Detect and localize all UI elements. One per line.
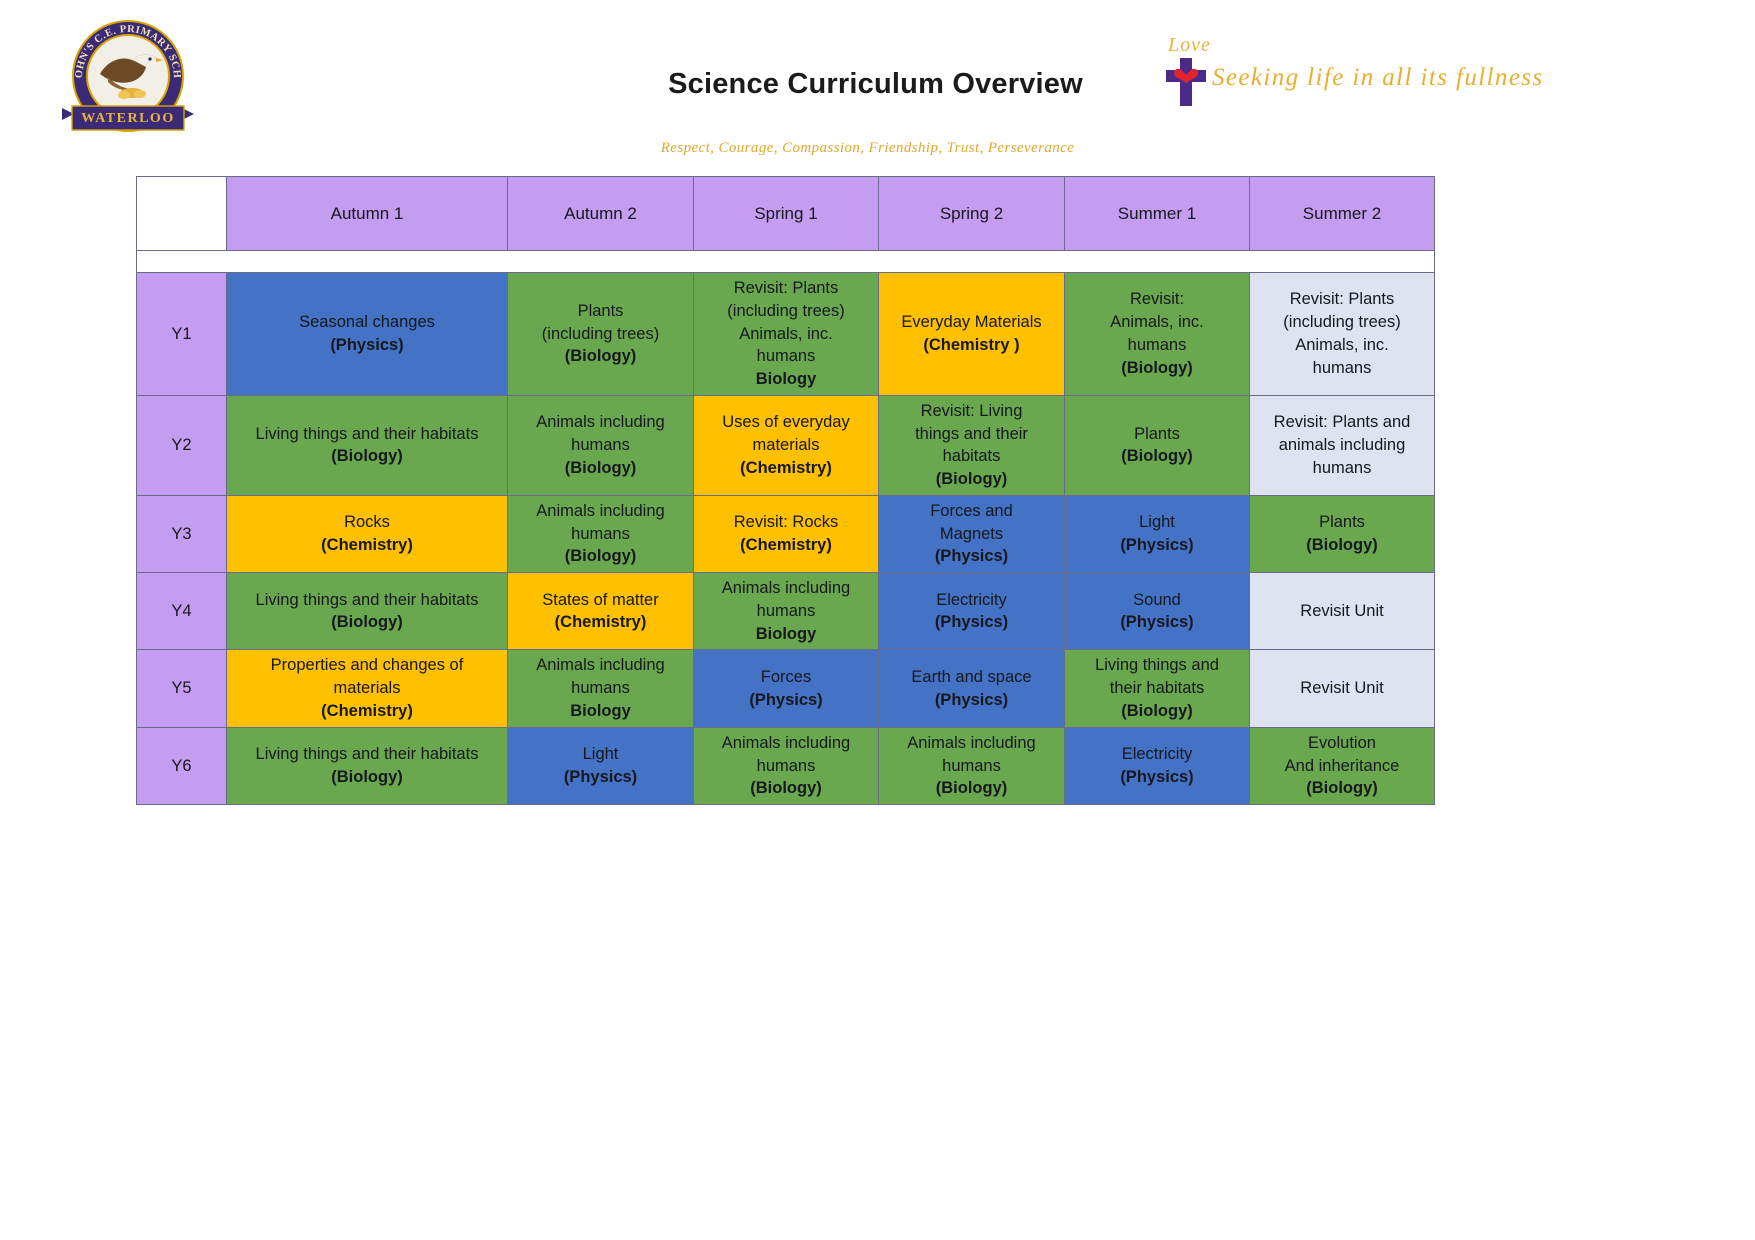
column-header-autumn-2: Autumn 2 bbox=[508, 177, 694, 251]
unit-cell-line: (Biology) bbox=[513, 457, 688, 480]
unit-cell-line: (Biology) bbox=[884, 468, 1059, 491]
unit-cell-line: (Biology) bbox=[232, 445, 502, 468]
table-row: Y3Rocks(Chemistry)Animals includinghuman… bbox=[137, 495, 1435, 572]
page-title-text: Science Curriculum Overview bbox=[668, 68, 1083, 100]
unit-cell-line: Living things and their habitats bbox=[232, 423, 502, 446]
unit-cell-y2-3: Uses of everydaymaterials(Chemistry) bbox=[694, 395, 879, 495]
unit-cell-line: Revisit: Living bbox=[884, 400, 1059, 423]
unit-cell-y3-4: Forces andMagnets(Physics) bbox=[879, 495, 1065, 572]
unit-cell-line: (Biology) bbox=[884, 777, 1059, 800]
unit-cell-y1-1: Seasonal changes(Physics) bbox=[227, 273, 508, 396]
unit-cell-y2-5: Plants(Biology) bbox=[1065, 395, 1250, 495]
unit-cell-y3-6: Plants(Biology) bbox=[1250, 495, 1435, 572]
unit-cell-y6-1: Living things and their habitats(Biology… bbox=[227, 727, 508, 804]
unit-cell-y5-3: Forces(Physics) bbox=[694, 650, 879, 727]
unit-cell-line: (Chemistry) bbox=[232, 534, 502, 557]
unit-cell-line: humans bbox=[699, 345, 873, 368]
unit-cell-line: Earth and space bbox=[884, 666, 1059, 689]
unit-cell-line: Animals including bbox=[699, 732, 873, 755]
unit-cell-line: Revisit Unit bbox=[1255, 600, 1429, 623]
unit-cell-y2-1: Living things and their habitats(Biology… bbox=[227, 395, 508, 495]
table-row: Y2Living things and their habitats(Biolo… bbox=[137, 395, 1435, 495]
unit-cell-line: humans bbox=[699, 755, 873, 778]
unit-cell-y6-3: Animals includinghumans(Biology) bbox=[694, 727, 879, 804]
unit-cell-y5-1: Properties and changes ofmaterials(Chemi… bbox=[227, 650, 508, 727]
unit-cell-y1-4: Everyday Materials(Chemistry ) bbox=[879, 273, 1065, 396]
unit-cell-y2-2: Animals includinghumans(Biology) bbox=[508, 395, 694, 495]
unit-cell-line: Rocks bbox=[232, 511, 502, 534]
year-label-y3: Y3 bbox=[137, 495, 227, 572]
unit-cell-line: (Physics) bbox=[699, 689, 873, 712]
unit-cell-y2-6: Revisit: Plants andanimals includinghuma… bbox=[1250, 395, 1435, 495]
unit-cell-line: Revisit: bbox=[1070, 288, 1244, 311]
unit-cell-line: Animals including bbox=[513, 654, 688, 677]
unit-cell-line: Biology bbox=[513, 700, 688, 723]
unit-cell-line: humans bbox=[513, 677, 688, 700]
table-row: Y5Properties and changes ofmaterials(Che… bbox=[137, 650, 1435, 727]
unit-cell-y6-6: EvolutionAnd inheritance(Biology) bbox=[1250, 727, 1435, 804]
unit-cell-line: (Physics) bbox=[1070, 534, 1244, 557]
unit-cell-y1-3: Revisit: Plants(including trees)Animals,… bbox=[694, 273, 879, 396]
crest-banner: WATERLOO bbox=[62, 104, 194, 134]
unit-cell-line: (Physics) bbox=[513, 766, 688, 789]
unit-cell-line: (Biology) bbox=[1070, 445, 1244, 468]
unit-cell-line: materials bbox=[699, 434, 873, 457]
page-header: ST. JOHN'S C.E. PRIMARY SCHOOL WATERLOO bbox=[0, 0, 1755, 175]
column-header-autumn-1: Autumn 1 bbox=[227, 177, 508, 251]
unit-cell-line: Biology bbox=[699, 368, 873, 391]
unit-cell-line: Seasonal changes bbox=[232, 311, 502, 334]
unit-cell-line: Animals, inc. bbox=[1255, 334, 1429, 357]
unit-cell-line: (Chemistry ) bbox=[884, 334, 1059, 357]
column-header-summer-2: Summer 2 bbox=[1250, 177, 1435, 251]
year-label-y6: Y6 bbox=[137, 727, 227, 804]
unit-cell-line: (Biology) bbox=[513, 345, 688, 368]
unit-cell-line: Evolution bbox=[1255, 732, 1429, 755]
unit-cell-line: Sound bbox=[1070, 589, 1244, 612]
unit-cell-line: (Biology) bbox=[513, 545, 688, 568]
strapline-text: Seeking life in all its fullness bbox=[1212, 64, 1544, 92]
unit-cell-line: Forces and bbox=[884, 500, 1059, 523]
unit-cell-y1-2: Plants(including trees)(Biology) bbox=[508, 273, 694, 396]
unit-cell-line: materials bbox=[232, 677, 502, 700]
unit-cell-line: (Physics) bbox=[884, 689, 1059, 712]
unit-cell-y2-4: Revisit: Livingthings and theirhabitats(… bbox=[879, 395, 1065, 495]
unit-cell-line: humans bbox=[1070, 334, 1244, 357]
unit-cell-y4-1: Living things and their habitats(Biology… bbox=[227, 573, 508, 650]
unit-cell-y4-3: Animals includinghumansBiology bbox=[694, 573, 879, 650]
unit-cell-line: Biology bbox=[699, 623, 873, 646]
unit-cell-line: Animals including bbox=[513, 500, 688, 523]
table-row: Y4Living things and their habitats(Biolo… bbox=[137, 573, 1435, 650]
unit-cell-line: (Chemistry) bbox=[699, 534, 873, 557]
unit-cell-line: (Biology) bbox=[232, 766, 502, 789]
unit-cell-line: Animals, inc. bbox=[1070, 311, 1244, 334]
unit-cell-line: (Biology) bbox=[1070, 700, 1244, 723]
unit-cell-line: their habitats bbox=[1070, 677, 1244, 700]
unit-cell-y6-2: Light(Physics) bbox=[508, 727, 694, 804]
table-spacer-row bbox=[137, 251, 1435, 273]
unit-cell-line: (Chemistry) bbox=[232, 700, 502, 723]
unit-cell-line: (Physics) bbox=[884, 611, 1059, 634]
table-header-row: Autumn 1Autumn 2Spring 1Spring 2Summer 1… bbox=[137, 177, 1435, 251]
curriculum-table-wrapper: Autumn 1Autumn 2Spring 1Spring 2Summer 1… bbox=[136, 176, 1434, 805]
crest-banner-label: WATERLOO bbox=[62, 104, 194, 134]
unit-cell-line: Plants bbox=[1255, 511, 1429, 534]
year-label-y1: Y1 bbox=[137, 273, 227, 396]
column-header-spring-2: Spring 2 bbox=[879, 177, 1065, 251]
unit-cell-line: (Biology) bbox=[232, 611, 502, 634]
unit-cell-y3-3: Revisit: Rocks(Chemistry) bbox=[694, 495, 879, 572]
column-header-spring-1: Spring 1 bbox=[694, 177, 879, 251]
love-word-label: Love bbox=[1168, 34, 1211, 57]
unit-cell-line: States of matter bbox=[513, 589, 688, 612]
unit-cell-line: habitats bbox=[884, 445, 1059, 468]
unit-cell-line: (Biology) bbox=[1255, 777, 1429, 800]
unit-cell-line: humans bbox=[513, 434, 688, 457]
unit-cell-y5-6: Revisit Unit bbox=[1250, 650, 1435, 727]
unit-cell-y4-4: Electricity(Physics) bbox=[879, 573, 1065, 650]
unit-cell-line: Revisit Unit bbox=[1255, 677, 1429, 700]
unit-cell-y3-2: Animals includinghumans(Biology) bbox=[508, 495, 694, 572]
unit-cell-line: (Physics) bbox=[1070, 766, 1244, 789]
unit-cell-line: Electricity bbox=[1070, 743, 1244, 766]
year-label-y5: Y5 bbox=[137, 650, 227, 727]
unit-cell-line: Animals including bbox=[513, 411, 688, 434]
unit-cell-line: Revisit: Plants bbox=[699, 277, 873, 300]
unit-cell-line: Animals including bbox=[699, 577, 873, 600]
unit-cell-line: Light bbox=[513, 743, 688, 766]
unit-cell-y4-2: States of matter(Chemistry) bbox=[508, 573, 694, 650]
unit-cell-y5-4: Earth and space(Physics) bbox=[879, 650, 1065, 727]
unit-cell-line: humans bbox=[513, 523, 688, 546]
unit-cell-line: Forces bbox=[699, 666, 873, 689]
unit-cell-line: Everyday Materials bbox=[884, 311, 1059, 334]
unit-cell-line: Living things and bbox=[1070, 654, 1244, 677]
unit-cell-line: Magnets bbox=[884, 523, 1059, 546]
unit-cell-line: Animals, inc. bbox=[699, 323, 873, 346]
unit-cell-line: things and their bbox=[884, 423, 1059, 446]
table-row: Y1Seasonal changes(Physics)Plants(includ… bbox=[137, 273, 1435, 396]
unit-cell-y6-4: Animals includinghumans(Biology) bbox=[879, 727, 1065, 804]
unit-cell-y1-5: Revisit:Animals, inc.humans(Biology) bbox=[1065, 273, 1250, 396]
school-values-line: Respect, Courage, Compassion, Friendship… bbox=[0, 140, 1745, 157]
column-header-summer-1: Summer 1 bbox=[1065, 177, 1250, 251]
unit-cell-line: Revisit: Rocks bbox=[699, 511, 873, 534]
unit-cell-y6-5: Electricity(Physics) bbox=[1065, 727, 1250, 804]
year-label-y2: Y2 bbox=[137, 395, 227, 495]
unit-cell-y4-6: Revisit Unit bbox=[1250, 573, 1435, 650]
unit-cell-line: Living things and their habitats bbox=[232, 743, 502, 766]
unit-cell-line: (Biology) bbox=[1070, 357, 1244, 380]
curriculum-overview-table: Autumn 1Autumn 2Spring 1Spring 2Summer 1… bbox=[136, 176, 1435, 805]
unit-cell-line: Light bbox=[1070, 511, 1244, 534]
unit-cell-line: Electricity bbox=[884, 589, 1059, 612]
unit-cell-line: humans bbox=[1255, 457, 1429, 480]
unit-cell-line: (including trees) bbox=[699, 300, 873, 323]
unit-cell-line: And inheritance bbox=[1255, 755, 1429, 778]
unit-cell-line: (Chemistry) bbox=[513, 611, 688, 634]
unit-cell-y1-6: Revisit: Plants(including trees)Animals,… bbox=[1250, 273, 1435, 396]
unit-cell-line: (Physics) bbox=[884, 545, 1059, 568]
cross-with-heart-icon bbox=[1164, 56, 1208, 108]
unit-cell-y3-1: Rocks(Chemistry) bbox=[227, 495, 508, 572]
unit-cell-line: Living things and their habitats bbox=[232, 589, 502, 612]
table-row: Y6Living things and their habitats(Biolo… bbox=[137, 727, 1435, 804]
unit-cell-line: (including trees) bbox=[1255, 311, 1429, 334]
unit-cell-line: (including trees) bbox=[513, 323, 688, 346]
unit-cell-line: humans bbox=[884, 755, 1059, 778]
unit-cell-line: humans bbox=[699, 600, 873, 623]
unit-cell-y4-5: Sound(Physics) bbox=[1065, 573, 1250, 650]
unit-cell-line: Plants bbox=[1070, 423, 1244, 446]
unit-cell-line: (Physics) bbox=[232, 334, 502, 357]
unit-cell-line: (Chemistry) bbox=[699, 457, 873, 480]
unit-cell-line: Properties and changes of bbox=[232, 654, 502, 677]
unit-cell-line: (Biology) bbox=[699, 777, 873, 800]
unit-cell-y5-2: Animals includinghumansBiology bbox=[508, 650, 694, 727]
year-label-y4: Y4 bbox=[137, 573, 227, 650]
unit-cell-line: animals including bbox=[1255, 434, 1429, 457]
strapline-logo: Love Seeking life in all its fullness bbox=[1150, 38, 1530, 118]
table-corner-cell bbox=[137, 177, 227, 251]
unit-cell-line: Revisit: Plants bbox=[1255, 288, 1429, 311]
unit-cell-line: (Biology) bbox=[1255, 534, 1429, 557]
unit-cell-line: Uses of everyday bbox=[699, 411, 873, 434]
unit-cell-line: (Physics) bbox=[1070, 611, 1244, 634]
unit-cell-line: Plants bbox=[513, 300, 688, 323]
table-spacer-cell bbox=[137, 251, 1435, 273]
unit-cell-line: Revisit: Plants and bbox=[1255, 411, 1429, 434]
unit-cell-line: humans bbox=[1255, 357, 1429, 380]
unit-cell-y3-5: Light(Physics) bbox=[1065, 495, 1250, 572]
unit-cell-y5-5: Living things andtheir habitats(Biology) bbox=[1065, 650, 1250, 727]
unit-cell-line: Animals including bbox=[884, 732, 1059, 755]
